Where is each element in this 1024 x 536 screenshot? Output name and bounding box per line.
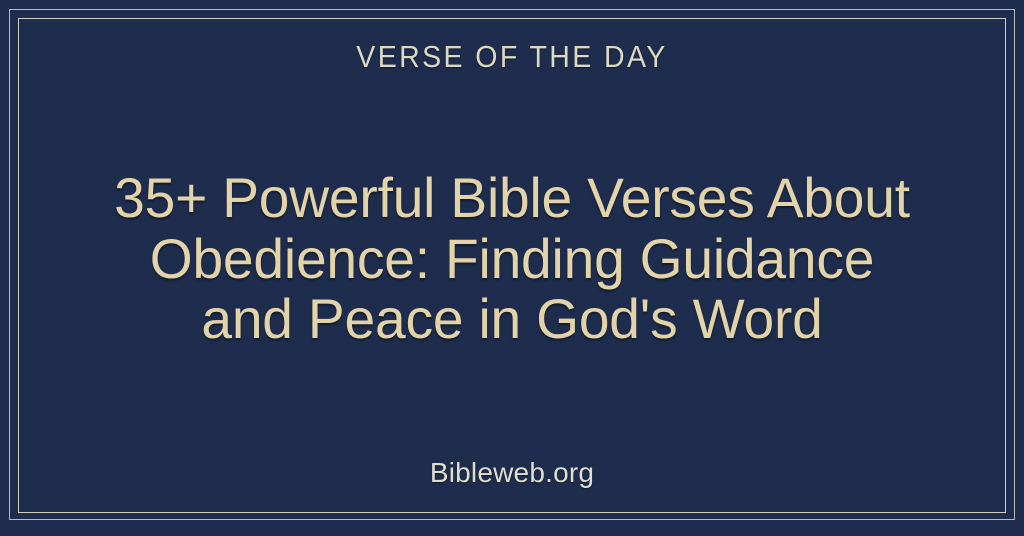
banner-title-container: 35+ Powerful Bible Verses About Obedienc… — [19, 74, 1005, 458]
banner-eyebrow-label: VERSE OF THE DAY — [58, 19, 965, 74]
banner-content: VERSE OF THE DAY 35+ Powerful Bible Vers… — [19, 19, 1005, 512]
verse-of-the-day-banner: VERSE OF THE DAY 35+ Powerful Bible Vers… — [0, 0, 1024, 536]
page-title: 35+ Powerful Bible Verses About Obedienc… — [98, 168, 925, 349]
site-attribution: Bibleweb.org — [19, 458, 1005, 512]
